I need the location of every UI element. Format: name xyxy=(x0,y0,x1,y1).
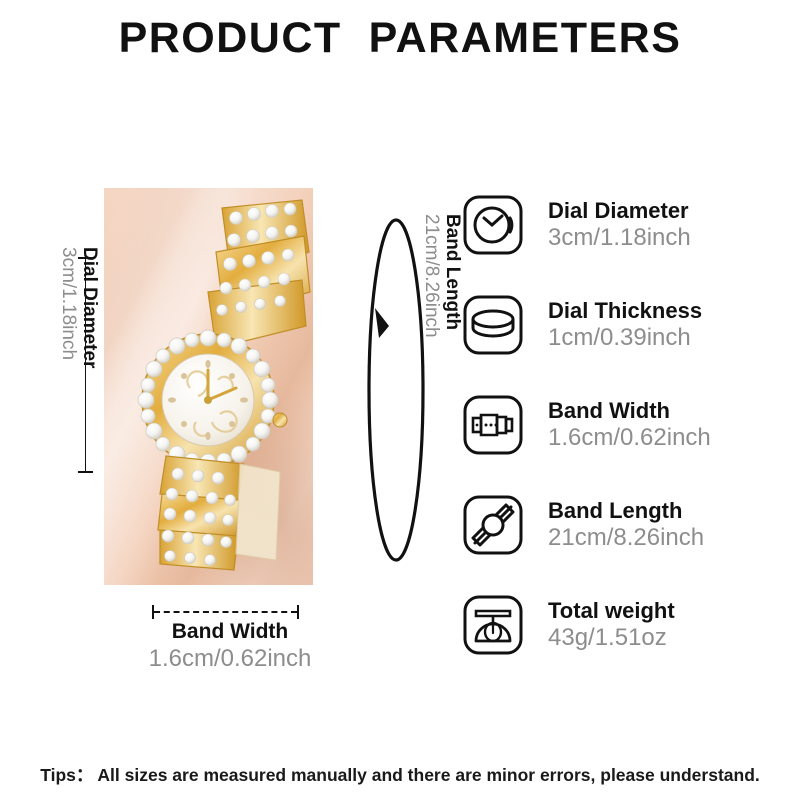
spec-row-dial-diameter: Dial Diameter 3cm/1.18inch xyxy=(462,186,792,264)
cylinder-thickness-icon xyxy=(462,294,524,356)
kitchen-scale-icon xyxy=(462,594,524,656)
spec-label: Band Length xyxy=(548,499,792,523)
spec-label: Dial Diameter xyxy=(548,199,792,223)
product-photo xyxy=(104,188,313,585)
spec-text-dial-diameter: Dial Diameter 3cm/1.18inch xyxy=(548,199,792,252)
product-parameters-page: PRODUCT PARAMETERS xyxy=(0,0,800,800)
watch-illustration xyxy=(104,188,313,585)
watch-strap-diagonal-icon xyxy=(462,494,524,556)
spec-label: Dial Thickness xyxy=(548,299,792,323)
dial-diameter-callout-label: Dial Diameter xyxy=(79,247,100,368)
footer-tips-text: All sizes are measured manually and ther… xyxy=(97,765,759,785)
band-width-dimension xyxy=(152,605,299,619)
dial-diameter-callout-value: 3cm/1.18inch xyxy=(58,247,79,360)
watch-band-lower xyxy=(158,456,280,570)
footer-tips-label: Tips： xyxy=(40,765,93,785)
spec-row-band-length: Band Length 21cm/8.26inch xyxy=(462,486,792,564)
spec-value: 1cm/0.39inch xyxy=(548,325,792,351)
band-length-callout-label: Band Length xyxy=(442,214,463,330)
spec-text-dial-thickness: Dial Thickness 1cm/0.39inch xyxy=(548,299,792,352)
spec-list: Dial Diameter 3cm/1.18inch Dial Thicknes… xyxy=(462,186,792,664)
band-width-callout-value: 1.6cm/0.62inch xyxy=(60,645,400,673)
spec-value: 3cm/1.18inch xyxy=(548,225,792,251)
band-width-callout: Band Width 1.6cm/0.62inch xyxy=(60,620,400,673)
watch-case xyxy=(138,330,287,470)
spec-row-total-weight: Total weight 43g/1.51oz xyxy=(462,586,792,664)
band-width-cap-right xyxy=(297,605,299,619)
spec-row-dial-thickness: Dial Thickness 1cm/0.39inch xyxy=(462,286,792,364)
spec-text-band-width: Band Width 1.6cm/0.62inch xyxy=(548,399,792,452)
footer-tips: Tips：All sizes are measured manually and… xyxy=(0,762,800,787)
band-width-dashed-line xyxy=(154,611,297,613)
band-width-callout-label: Band Width xyxy=(60,620,400,645)
page-title: PRODUCT PARAMETERS xyxy=(0,14,800,63)
spec-label: Total weight xyxy=(548,599,792,623)
spec-value: 21cm/8.26inch xyxy=(548,525,792,551)
watch-band-buckle-icon xyxy=(462,394,524,456)
spec-row-band-width: Band Width 1.6cm/0.62inch xyxy=(462,386,792,464)
spec-text-band-length: Band Length 21cm/8.26inch xyxy=(548,499,792,552)
band-length-callout-value: 21cm/8.26inch xyxy=(421,214,442,338)
band-length-callout: Band Length 21cm/8.26inch xyxy=(404,214,462,444)
dial-diameter-callout: Dial Diameter 3cm/1.18inch xyxy=(39,247,99,477)
spec-value: 1.6cm/0.62inch xyxy=(548,425,792,451)
spec-label: Band Width xyxy=(548,399,792,423)
watch-clock-icon xyxy=(462,194,524,256)
spec-value: 43g/1.51oz xyxy=(548,625,792,651)
spec-text-total-weight: Total weight 43g/1.51oz xyxy=(548,599,792,652)
watch-band-upper xyxy=(208,200,310,348)
